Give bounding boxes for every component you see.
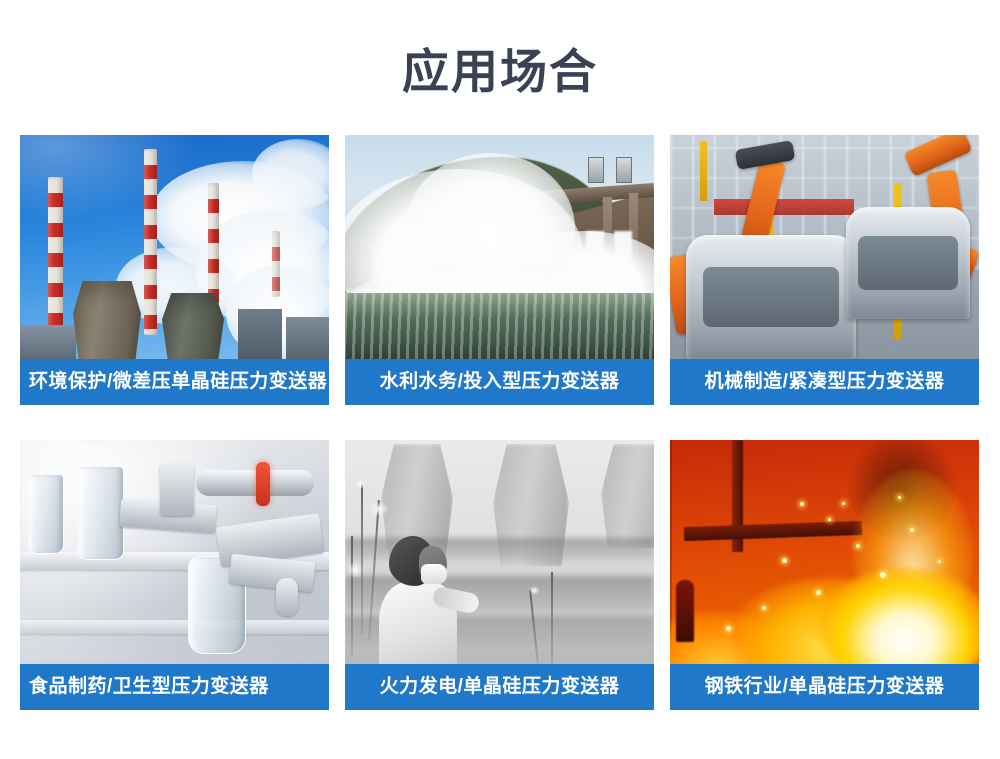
scenario-card-water-conservancy[interactable]: 水利水务/投入型压力变送器 xyxy=(345,135,654,405)
scenario-caption: 水利水务/投入型压力变送器 xyxy=(345,359,654,405)
scenario-card-machinery-manufacturing[interactable]: 机械制造/紧凑型压力变送器 xyxy=(670,135,979,405)
scenario-card-environmental-protection[interactable]: 环境保护/微差压单晶硅压力变送器 xyxy=(20,135,329,405)
scenario-image-steel-furnace xyxy=(670,440,979,664)
application-scenarios-page: 应用场合 环境保护/微差压单晶硅压力变送器 xyxy=(0,0,1000,759)
page-title: 应用场合 xyxy=(0,44,1000,100)
scenario-card-thermal-power[interactable]: 火力发电/单晶硅压力变送器 xyxy=(345,440,654,710)
scenario-caption: 机械制造/紧凑型压力变送器 xyxy=(670,359,979,405)
scenario-grid: 环境保护/微差压单晶硅压力变送器 水利水务/投入型压力变送器 xyxy=(20,135,980,710)
scenario-card-steel-industry[interactable]: 钢铁行业/单晶硅压力变送器 xyxy=(670,440,979,710)
scenario-image-power-plant xyxy=(20,135,329,359)
scenario-image-child-mask xyxy=(345,440,654,664)
scenario-caption: 火力发电/单晶硅压力变送器 xyxy=(345,664,654,710)
scenario-image-robot-assembly xyxy=(670,135,979,359)
scenario-image-pharma-line xyxy=(20,440,329,664)
scenario-caption: 食品制药/卫生型压力变送器 xyxy=(20,664,329,710)
scenario-card-food-pharmaceutical[interactable]: 食品制药/卫生型压力变送器 xyxy=(20,440,329,710)
scenario-caption: 钢铁行业/单晶硅压力变送器 xyxy=(670,664,979,710)
scenario-image-dam xyxy=(345,135,654,359)
scenario-caption: 环境保护/微差压单晶硅压力变送器 xyxy=(20,359,329,405)
